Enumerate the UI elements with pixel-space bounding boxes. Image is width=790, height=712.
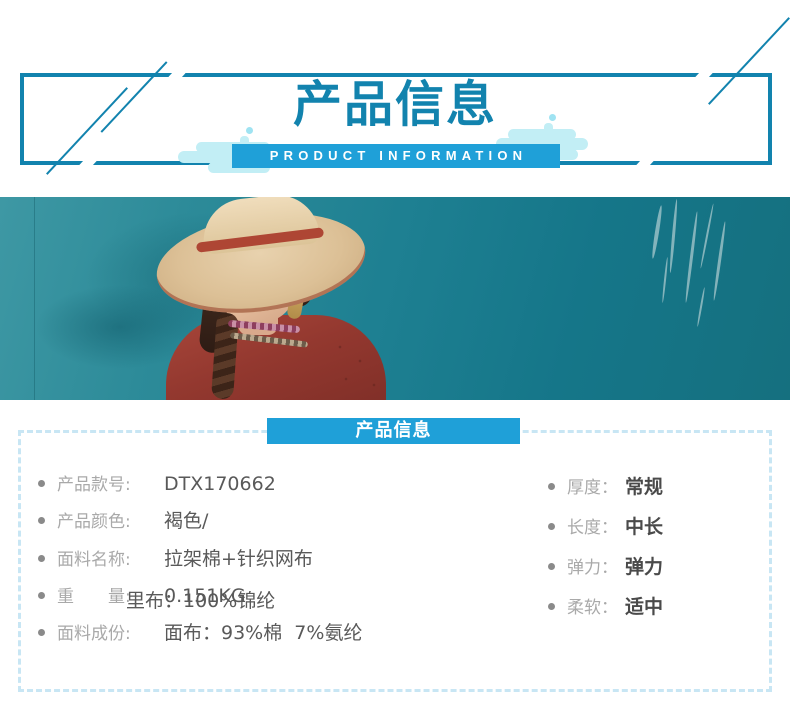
spec-label: 面料成份:	[57, 619, 157, 644]
spec-value: 弹力	[625, 552, 663, 579]
photo-background-wall	[0, 197, 790, 400]
spec-label: 面料名称:	[57, 545, 157, 570]
page-title: 产品信息	[0, 80, 790, 129]
frame-gap-bottom-left	[79, 154, 97, 173]
spec-value: 中长	[625, 512, 663, 539]
hero-photo: 模 特: 章珉 体 重: 51kg 身 高: 173cm 三 围: 83/60/…	[0, 197, 790, 400]
garment-embroidery	[326, 335, 392, 397]
bullet-icon	[548, 603, 555, 610]
spec-value: 拉架棉+针织网布	[164, 544, 313, 571]
section-title: 产品信息	[267, 418, 520, 444]
fabric-composition-second-line: 里布：100%锦纶	[126, 586, 275, 613]
bullet-icon	[38, 592, 45, 599]
spec-row: 产品款号: DTX170662	[38, 470, 508, 495]
spec-label: 弹力：	[567, 553, 618, 578]
subtitle-band: PRODUCT INFORMATION	[232, 144, 560, 168]
spec-label: 产品款号:	[57, 470, 157, 495]
spec-value: DTX170662	[164, 473, 276, 495]
spec-row: 产品颜色: 褐色/	[38, 506, 508, 533]
spec-row: 面料成份: 面布：93%棉 7%氨纶	[38, 618, 508, 645]
spec-value: 适中	[625, 592, 663, 619]
product-info-section: 产品信息 产品款号: DTX170662 产品颜色: 褐色/ 面料名称: 拉架棉…	[0, 400, 790, 712]
spec-value: 面布：93%棉 7%氨纶	[164, 618, 362, 645]
spec-row: 厚度： 常规	[548, 472, 768, 499]
wall-seam-line	[34, 197, 35, 400]
spec-value: 常规	[625, 472, 663, 499]
spec-label: 长度：	[567, 513, 618, 538]
spec-row: 面料名称: 拉架棉+针织网布	[38, 544, 508, 571]
bullet-icon	[38, 555, 45, 562]
model-figure	[130, 197, 390, 400]
subtitle-text: PRODUCT INFORMATION	[232, 144, 560, 168]
bullet-icon	[548, 563, 555, 570]
spec-label: 产品颜色:	[57, 507, 157, 532]
spec-row: 长度： 中长	[548, 512, 768, 539]
spec-row: 柔软： 适中	[548, 592, 768, 619]
bullet-icon	[548, 523, 555, 530]
header-banner: 产品信息 PRODUCT INFORMATION	[0, 0, 790, 197]
bullet-icon	[38, 629, 45, 636]
spec-column-left: 产品款号: DTX170662 产品颜色: 褐色/ 面料名称: 拉架棉+针织网布…	[38, 470, 508, 656]
bullet-icon	[548, 483, 555, 490]
spec-column-right: 厚度： 常规 长度： 中长 弹力： 弹力 柔软： 适中	[548, 472, 768, 632]
spec-label: 厚度：	[567, 473, 618, 498]
section-title-banner: 产品信息	[267, 418, 520, 444]
spec-value: 褐色/	[164, 506, 208, 533]
bullet-icon	[38, 480, 45, 487]
spec-row: 弹力： 弹力	[548, 552, 768, 579]
spec-label: 柔软：	[567, 593, 618, 618]
frame-gap-bottom-right	[636, 154, 654, 173]
bullet-icon	[38, 517, 45, 524]
